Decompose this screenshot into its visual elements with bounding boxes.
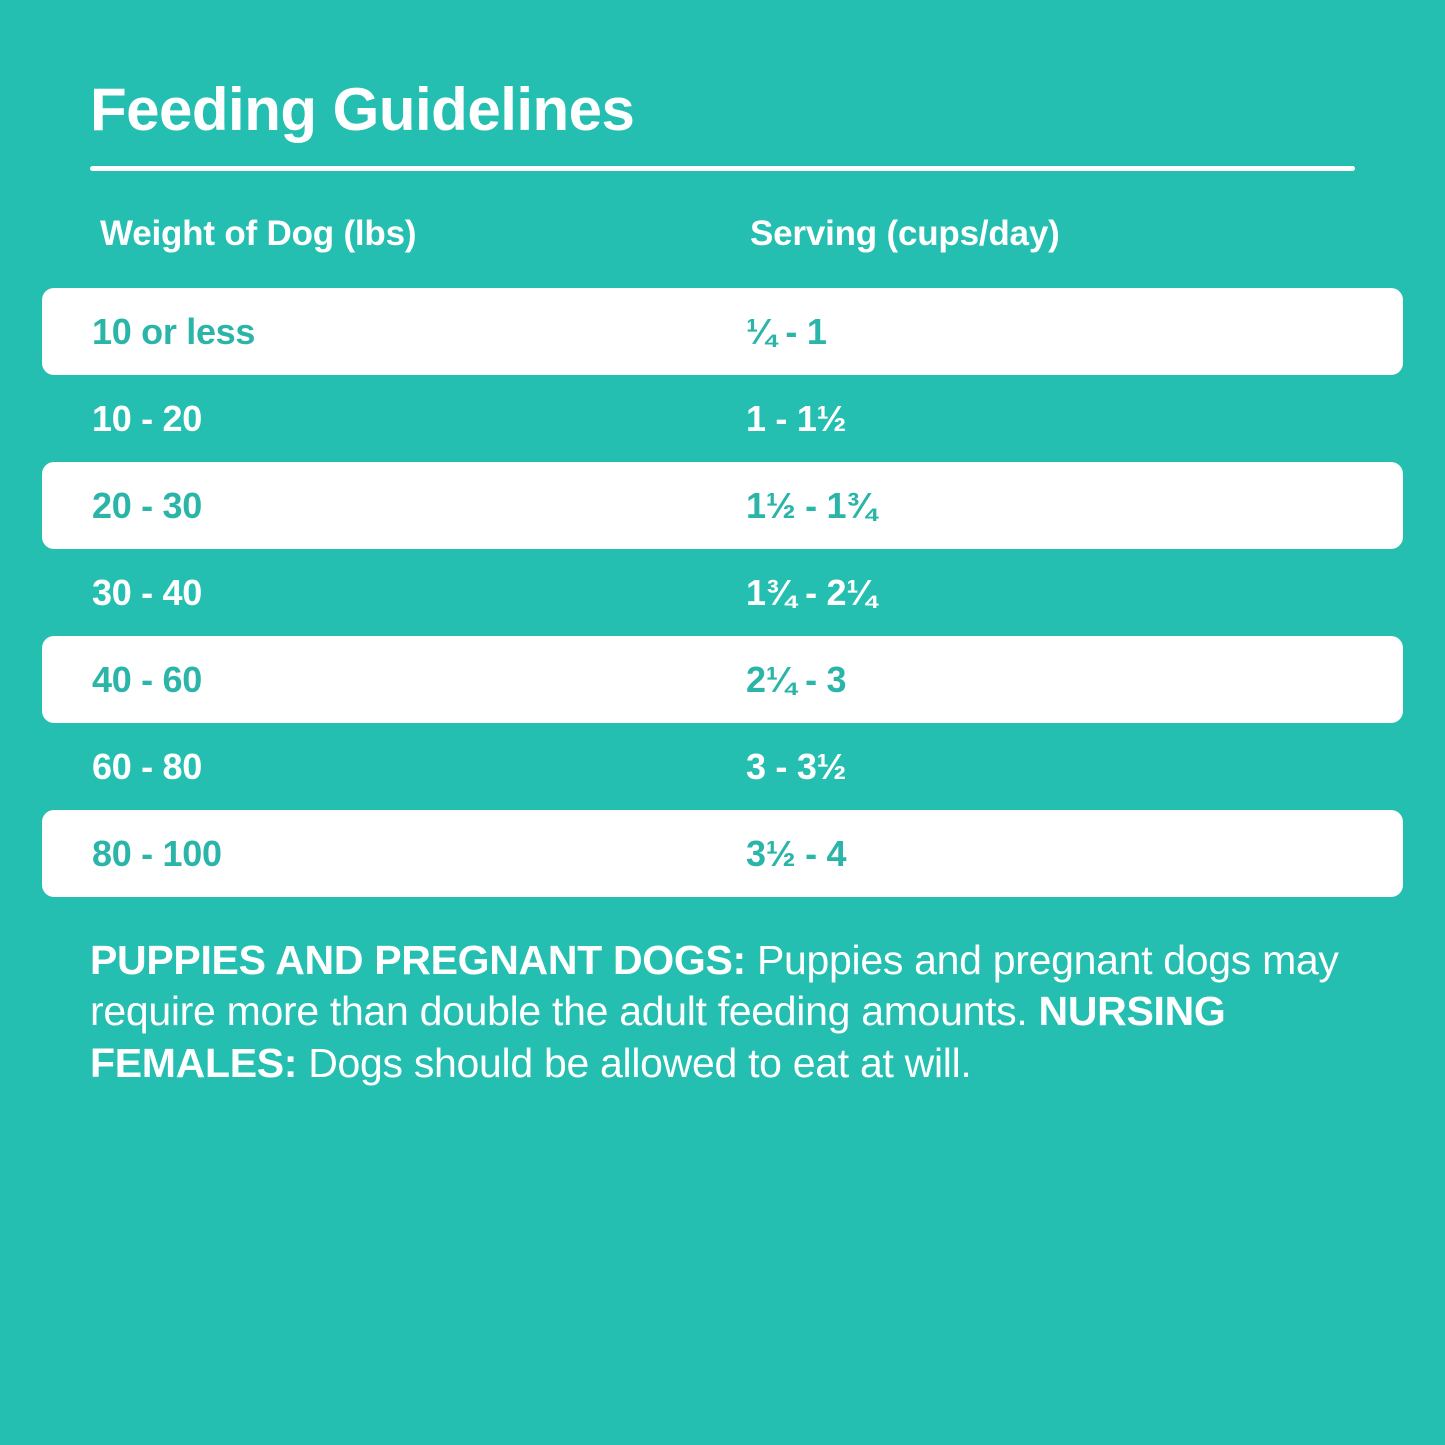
cell-serving: 1½ - 1¾ — [746, 488, 876, 524]
table-row: 10 or less¼ - 1 — [42, 288, 1403, 375]
title-divider — [90, 166, 1355, 171]
cell-weight: 80 - 100 — [92, 836, 222, 872]
cell-serving: 3½ - 4 — [746, 836, 846, 872]
cell-weight: 10 - 20 — [92, 401, 202, 437]
table-row: 80 - 1003½ - 4 — [42, 810, 1403, 897]
cell-serving: 1¾ - 2¼ — [746, 575, 876, 611]
cell-weight: 60 - 80 — [92, 749, 202, 785]
cell-serving: 3 - 3½ — [746, 749, 846, 785]
cell-serving: ¼ - 1 — [746, 314, 827, 350]
cell-weight: 30 - 40 — [92, 575, 202, 611]
cell-weight: 40 - 60 — [92, 662, 202, 698]
page-title: Feeding Guidelines — [90, 78, 634, 141]
cell-weight: 10 or less — [92, 314, 255, 350]
note-label-puppies: PUPPIES AND PREGNANT DOGS: — [90, 937, 746, 983]
table-row: 20 - 301½ - 1¾ — [42, 462, 1403, 549]
table-row: 10 - 201 - 1½ — [42, 375, 1403, 462]
table-row: 30 - 401¾ - 2¼ — [42, 549, 1403, 636]
column-header-serving: Serving (cups/day) — [750, 214, 1060, 254]
table-row: 40 - 602¼ - 3 — [42, 636, 1403, 723]
feeding-note: PUPPIES AND PREGNANT DOGS: Puppies and p… — [90, 935, 1370, 1089]
table-column-headers: Weight of Dog (lbs) Serving (cups/day) — [0, 214, 1445, 264]
cell-serving: 2¼ - 3 — [746, 662, 846, 698]
feeding-guidelines-panel: Feeding Guidelines Weight of Dog (lbs) S… — [0, 0, 1445, 1445]
note-text-nursing: Dogs should be allowed to eat at will. — [297, 1040, 971, 1086]
table-row: 60 - 803 - 3½ — [42, 723, 1403, 810]
feeding-table: 10 or less¼ - 110 - 201 - 1½20 - 301½ - … — [0, 288, 1445, 897]
cell-serving: 1 - 1½ — [746, 401, 846, 437]
cell-weight: 20 - 30 — [92, 488, 202, 524]
column-header-weight: Weight of Dog (lbs) — [100, 214, 416, 254]
